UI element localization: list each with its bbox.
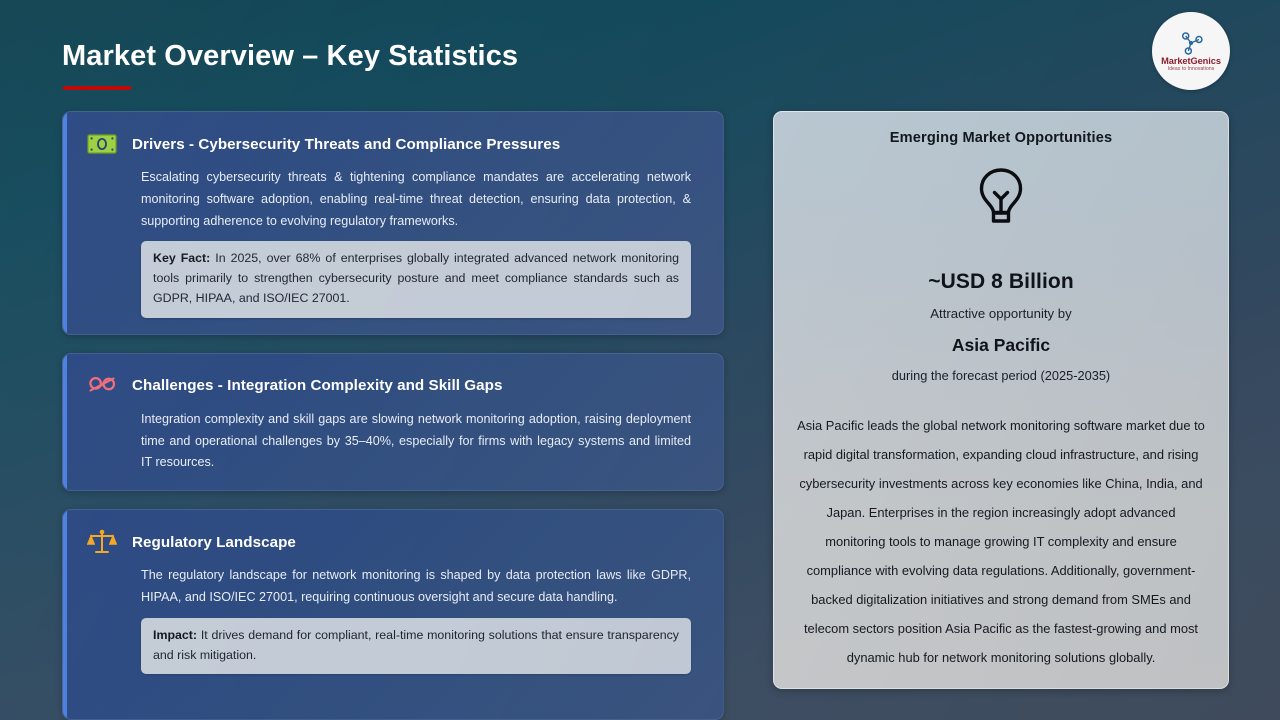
slide-canvas: Market Overview – Key Statistics MarketG… <box>0 0 1280 720</box>
card-header: Challenges - Integration Complexity and … <box>85 371 701 401</box>
broken-link-icon <box>85 371 119 401</box>
insight-cards-column: Drivers - Cybersecurity Threats and Comp… <box>62 111 724 720</box>
card-body-text: Integration complexity and skill gaps ar… <box>85 409 701 474</box>
callout-label: Key Fact: <box>153 251 210 265</box>
card-title: Challenges - Integration Complexity and … <box>132 377 502 394</box>
card-body-text: Escalating cybersecurity threats & tight… <box>85 167 701 232</box>
card-title: Drivers - Cybersecurity Threats and Comp… <box>132 136 560 153</box>
callout-text: It drives demand for compliant, real-tim… <box>153 628 679 662</box>
callout-label: Impact: <box>153 628 197 642</box>
logo-tagline: Ideas to Innovations <box>1168 67 1215 72</box>
card-challenges[interactable]: Challenges - Integration Complexity and … <box>62 353 724 491</box>
logo-wordmark: MarketGenics <box>1161 57 1221 66</box>
callout-text: In 2025, over 68% of enterprises globall… <box>153 251 679 305</box>
card-drivers[interactable]: Drivers - Cybersecurity Threats and Comp… <box>62 111 724 335</box>
card-header: Regulatory Landscape <box>85 527 701 557</box>
brand-logo: MarketGenics Ideas to Innovations <box>1152 12 1230 90</box>
forecast-period: during the forecast period (2025-2035) <box>792 368 1210 383</box>
card-callout-key-fact: Key Fact: In 2025, over 68% of enterpris… <box>141 241 691 318</box>
scales-of-justice-icon <box>85 527 119 557</box>
card-header: Drivers - Cybersecurity Threats and Comp… <box>85 129 701 159</box>
card-callout-impact: Impact: It drives demand for compliant, … <box>141 618 691 675</box>
market-value-caption: Attractive opportunity by <box>792 306 1210 321</box>
card-body-text: The regulatory landscape for network mon… <box>85 565 701 609</box>
lightbulb-icon <box>792 166 1210 228</box>
panel-title: Emerging Market Opportunities <box>792 130 1210 146</box>
card-title: Regulatory Landscape <box>132 534 296 551</box>
money-banknote-icon <box>85 129 119 159</box>
emerging-opportunities-panel[interactable]: Emerging Market Opportunities ~USD 8 Bil… <box>773 111 1229 689</box>
market-value: ~USD 8 Billion <box>792 270 1210 294</box>
network-node-icon <box>1176 30 1206 56</box>
page-title: Market Overview – Key Statistics <box>62 40 518 73</box>
panel-description: Asia Pacific leads the global network mo… <box>792 411 1210 672</box>
card-regulatory[interactable]: Regulatory Landscape The regulatory land… <box>62 509 724 720</box>
region-name: Asia Pacific <box>792 335 1210 356</box>
title-underline-rule <box>63 86 131 90</box>
